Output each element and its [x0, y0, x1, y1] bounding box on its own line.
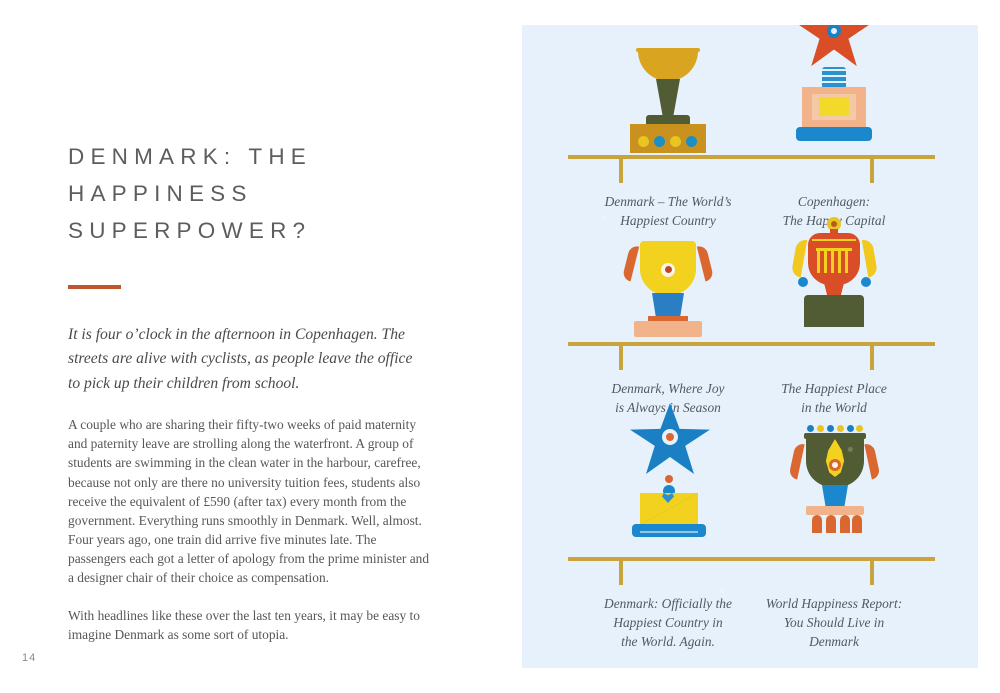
body-paragraph-1: A couple who are sharing their fifty-two… [68, 415, 431, 587]
standfirst-paragraph: It is four o’clock in the afternoon in C… [68, 323, 428, 397]
book-spread: DENMARK: THE HAPPINESS SUPERPOWER? It is… [0, 0, 1000, 693]
red-star-trophy-icon [734, 25, 934, 143]
article-text-column: DENMARK: THE HAPPINESS SUPERPOWER? It is… [68, 138, 440, 644]
illustration-panel: Denmark – The World’s Happiest Country C… [522, 25, 978, 668]
trophy-cell-2 [734, 25, 934, 143]
trophy-cell-6 [734, 405, 934, 535]
trophy-cell-4 [734, 199, 934, 329]
olive-flame-trophy-icon [734, 405, 934, 535]
page-number: 14 [22, 652, 36, 664]
trophy-caption-6: World Happiness Report: You Should Live … [734, 594, 934, 651]
title-rule-divider [68, 285, 121, 289]
red-striped-cup-trophy-icon [734, 199, 934, 329]
body-paragraph-2: With headlines like these over the last … [68, 606, 431, 644]
page-title: DENMARK: THE HAPPINESS SUPERPOWER? [68, 138, 440, 249]
